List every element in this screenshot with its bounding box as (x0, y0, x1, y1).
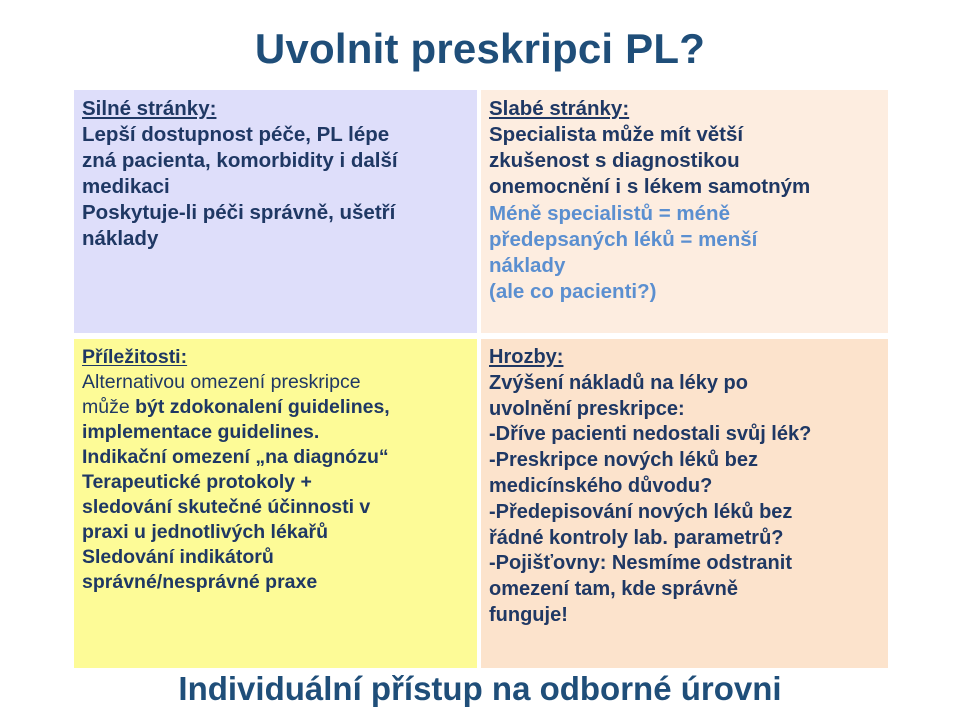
threats-line: omezení tam, kde správně (489, 577, 880, 603)
threats-line: řádné kontroly lab. parametrů? (489, 526, 880, 552)
slide: Uvolnit preskripci PL? Silné stránky: Le… (0, 0, 960, 720)
opportunities-line: praxi u jednotlivých lékařů (82, 520, 469, 545)
opportunities-intro-prefix: může (82, 396, 135, 418)
threats-line: -Předepisování nových léků bez (489, 500, 880, 526)
weaknesses-line: onemocnění i s lékem samotným (489, 174, 880, 200)
threats-line: -Pojišťovny: Nesmíme odstranit (489, 551, 880, 577)
swot-quadrant-threats: Hrozby: Zvýšení nákladů na léky po uvoln… (481, 339, 888, 668)
threats-content: Hrozby: Zvýšení nákladů na léky po uvoln… (481, 339, 888, 629)
weaknesses-accent-line: Méně specialistů = méně (489, 201, 880, 227)
opportunities-line: sledování skutečné účinnosti v (82, 495, 469, 520)
weaknesses-line: zkušenost s diagnostikou (489, 148, 880, 174)
weaknesses-accent-line: předepsaných léků = menší (489, 227, 880, 253)
threats-heading: Hrozby: (489, 345, 563, 371)
threats-line: medicínského důvodu? (489, 474, 880, 500)
threats-line: funguje! (489, 603, 880, 629)
opportunities-heading: Příležitosti: (82, 345, 187, 370)
opportunities-intro-line: Alternativou omezení preskripce (82, 370, 469, 395)
strengths-line: medikaci (82, 174, 469, 200)
opportunities-line: Sledování indikátorů (82, 545, 469, 570)
threats-line: Zvýšení nákladů na léky po (489, 371, 880, 397)
opportunities-line: implementace guidelines. (82, 420, 469, 445)
strengths-content: Silné stránky: Lepší dostupnost péče, PL… (74, 90, 477, 252)
weaknesses-accent-line: (ale co pacienti?) (489, 279, 880, 305)
threats-line: -Dříve pacienti nedostali svůj lék? (489, 422, 880, 448)
threats-line: uvolnění preskripce: (489, 397, 880, 423)
opportunities-line: Terapeutické protokoly + (82, 470, 469, 495)
opportunities-line: správné/nesprávné praxe (82, 570, 469, 595)
strengths-line: Lepší dostupnost péče, PL lépe (82, 122, 469, 148)
weaknesses-heading: Slabé stránky: (489, 96, 629, 122)
slide-footer: Individuální přístup na odborné úrovni (0, 672, 960, 705)
strengths-heading: Silné stránky: (82, 96, 216, 122)
slide-title: Uvolnit preskripci PL? (0, 28, 960, 70)
opportunities-line: Indikační omezení „na diagnózu“ (82, 445, 469, 470)
weaknesses-content: Slabé stránky: Specialista může mít větš… (481, 90, 888, 305)
strengths-line: zná pacienta, komorbidity i další (82, 148, 469, 174)
weaknesses-line: Specialista může mít větší (489, 122, 880, 148)
strengths-line: náklady (82, 226, 469, 252)
swot-matrix: Silné stránky: Lepší dostupnost péče, PL… (74, 90, 888, 668)
strengths-line: Poskytuje-li péči správně, ušetří (82, 200, 469, 226)
swot-quadrant-weaknesses: Slabé stránky: Specialista může mít větš… (481, 90, 888, 333)
weaknesses-accent-line: náklady (489, 253, 880, 279)
swot-quadrant-opportunities: Příležitosti: Alternativou omezení presk… (74, 339, 477, 668)
opportunities-content: Příležitosti: Alternativou omezení presk… (74, 339, 477, 595)
opportunities-intro-bold: být zdokonalení guidelines, (135, 396, 390, 418)
threats-line: -Preskripce nových léků bez (489, 448, 880, 474)
swot-quadrant-strengths: Silné stránky: Lepší dostupnost péče, PL… (74, 90, 477, 333)
